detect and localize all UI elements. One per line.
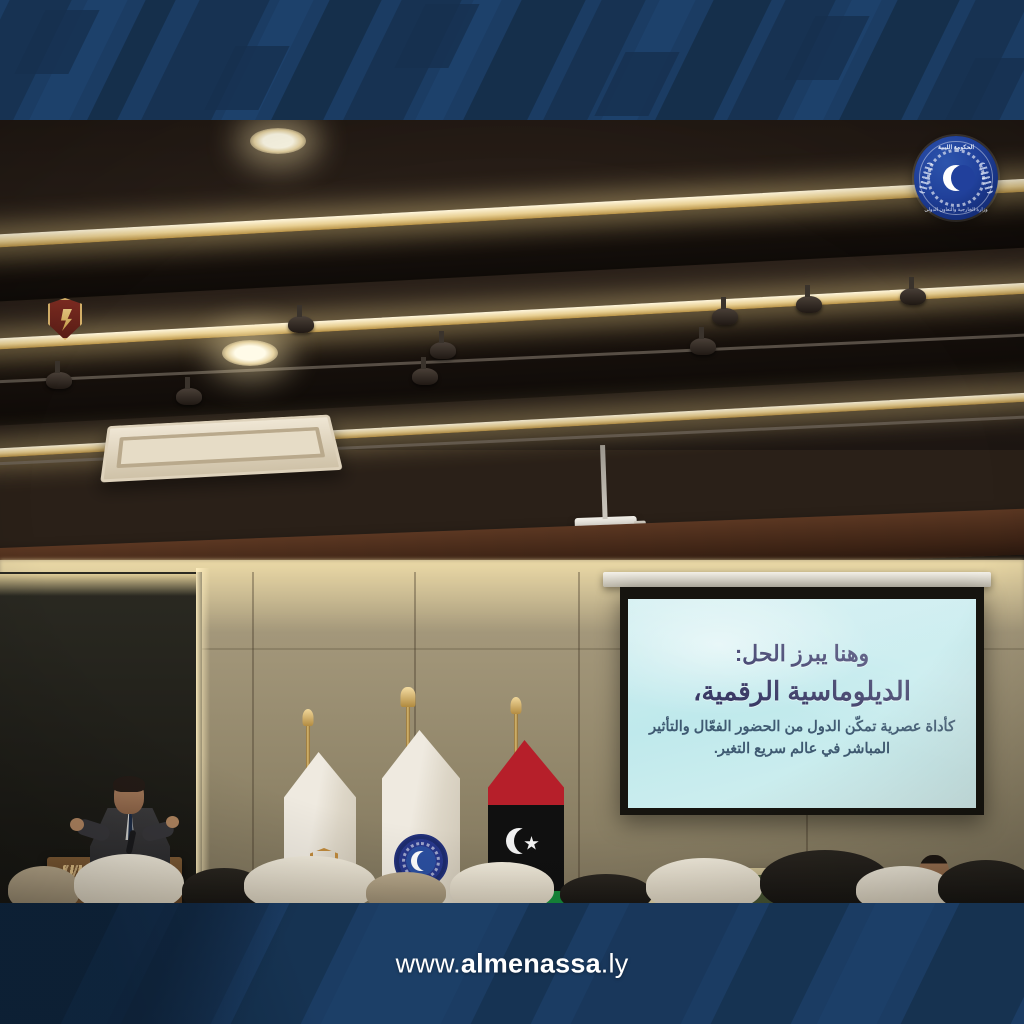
url-prefix: www. bbox=[396, 948, 461, 978]
audience-member bbox=[8, 866, 80, 904]
top-decorative-band bbox=[0, 0, 1024, 122]
url-tld: .ly bbox=[601, 948, 629, 978]
track-spotlight bbox=[412, 368, 438, 385]
slide-body-text: كأداة عصرية تمكّن الدول من الحضور الفعّا… bbox=[647, 716, 957, 761]
presentation-slide: وهنا يبرز الحل: الديلوماسية الرقمية، كأد… bbox=[628, 599, 976, 808]
projection-screen-casing bbox=[603, 572, 991, 587]
emblem-bottom-text: وزارة الخارجية والتعاون الدولي bbox=[914, 207, 998, 213]
audience-member bbox=[560, 874, 652, 904]
slide-subject: الديلوماسية الرقمية، bbox=[693, 676, 911, 707]
track-spotlight bbox=[288, 316, 314, 333]
website-url[interactable]: www.almenassa.ly bbox=[0, 948, 1024, 979]
track-spotlight bbox=[900, 288, 926, 305]
track-spotlight bbox=[46, 372, 72, 389]
slide-headline: وهنا يبرز الحل: bbox=[735, 641, 869, 667]
star-icon bbox=[962, 173, 974, 185]
audience-member bbox=[646, 858, 762, 904]
audience-member bbox=[74, 854, 184, 904]
track-spotlight bbox=[796, 296, 822, 313]
panel-edge-glow bbox=[196, 568, 210, 904]
ceiling-downlight bbox=[222, 340, 278, 366]
track-spotlight bbox=[712, 308, 738, 325]
track-spotlight bbox=[690, 338, 716, 355]
audience-member bbox=[366, 872, 446, 904]
crescent-icon bbox=[506, 828, 532, 854]
libyan-government-seal-emblem: الحكومة الليبية وزارة الخارجية والتعاون … bbox=[914, 136, 998, 220]
crescent-icon bbox=[943, 165, 969, 191]
ceiling-downlight bbox=[250, 128, 306, 154]
event-photograph: وهنا يبرز الحل: الديلوماسية الرقمية، كأد… bbox=[0, 120, 1024, 904]
audience-member bbox=[244, 856, 376, 904]
track-spotlight bbox=[430, 342, 456, 359]
social-media-post: وهنا يبرز الحل: الديلوماسية الرقمية، كأد… bbox=[0, 0, 1024, 1024]
bottom-decorative-band: www.almenassa.ly bbox=[0, 903, 1024, 1024]
url-domain: almenassa bbox=[461, 948, 601, 978]
track-spotlight bbox=[176, 388, 202, 405]
emblem-top-text: الحكومة الليبية bbox=[914, 144, 998, 151]
ceiling-ac-cassette bbox=[100, 415, 343, 483]
audience-member bbox=[450, 862, 554, 904]
projection-screen: وهنا يبرز الحل: الديلوماسية الرقمية، كأد… bbox=[620, 587, 984, 815]
ceiling bbox=[0, 120, 1024, 450]
